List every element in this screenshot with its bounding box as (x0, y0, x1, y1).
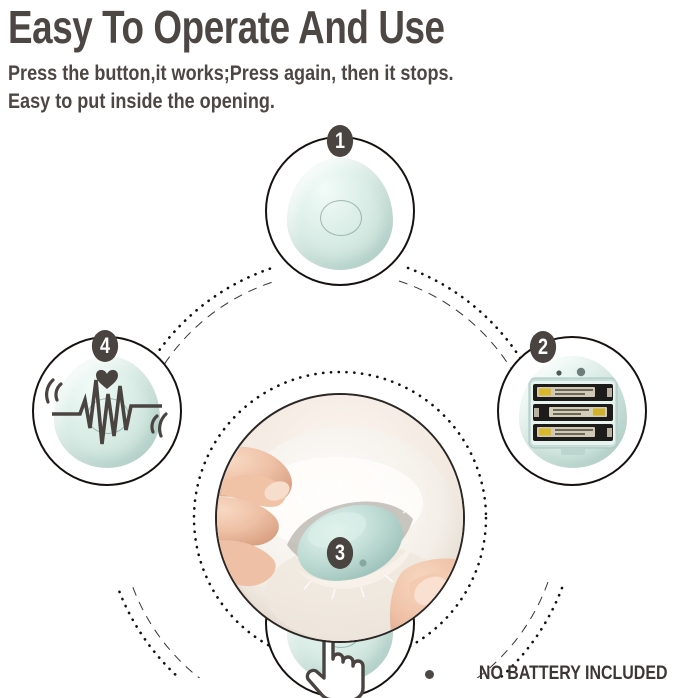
battery-compartment-icon (519, 356, 627, 468)
step-2-badge: 2 (530, 331, 556, 363)
vibration-arcs-right (152, 414, 166, 436)
step-4-badge: 4 (92, 330, 118, 362)
subtitle-line-1: Press the button,it works;Press again, t… (8, 60, 576, 88)
bullet-dot-icon (425, 670, 434, 679)
device-button-icon (320, 200, 362, 236)
no-battery-included-text: NO BATTERY INCLUDED (478, 663, 667, 685)
photo-illustration (217, 395, 465, 643)
step-2[interactable]: 2 (497, 336, 647, 486)
page-title: Easy To Operate And Use (8, 2, 536, 52)
subtitle-line-2: Easy to put inside the opening. (8, 88, 576, 116)
heart-icon (96, 370, 118, 389)
cycle-diagram: 1 (0, 118, 679, 678)
step-4[interactable]: 4 (32, 336, 182, 486)
step-1-badge: 1 (327, 125, 353, 157)
vibration-arcs-left (47, 380, 61, 402)
step-3-badge: 3 (327, 537, 353, 569)
footer-note: NO BATTERY INCLUDED (425, 663, 667, 685)
product-in-plush-photo (215, 393, 465, 643)
header: Easy To Operate And Use Press the button… (8, 0, 668, 116)
battery-compartment-graphic (519, 356, 627, 468)
step-1[interactable]: 1 (265, 136, 415, 286)
